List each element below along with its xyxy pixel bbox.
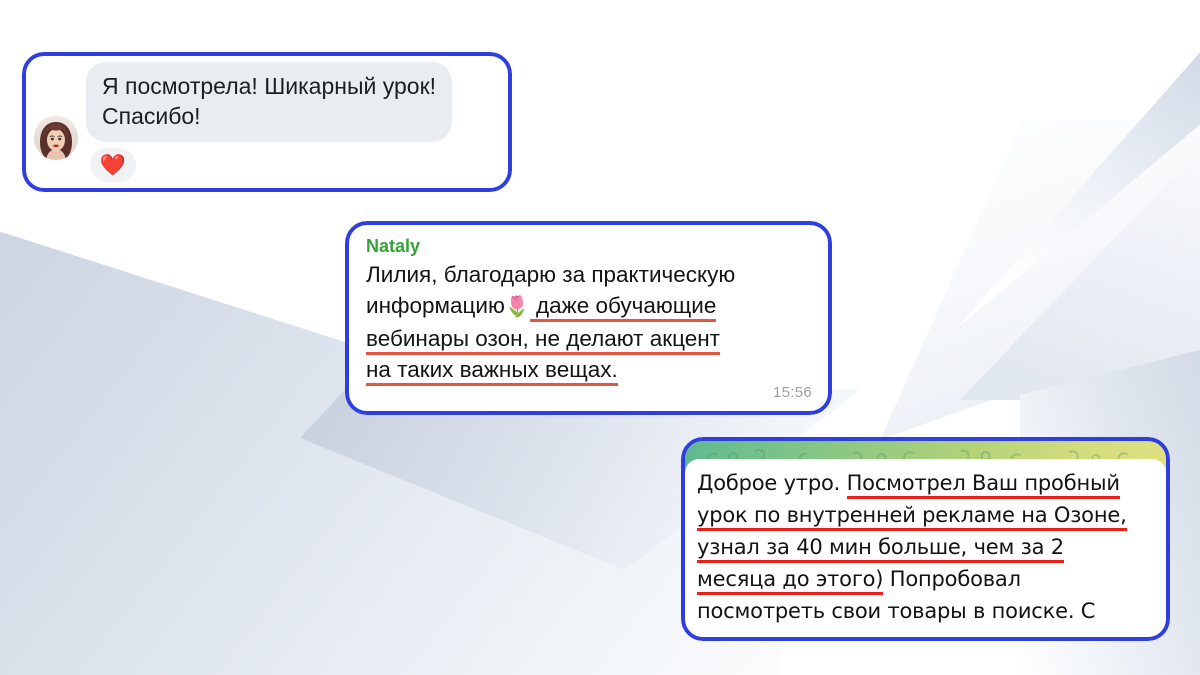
plain-text: Попробовал <box>883 567 1021 591</box>
plain-text: Доброе утро. <box>697 471 847 495</box>
chat-message-2: Nataly Лилия, благодарю за практическуюи… <box>345 221 832 415</box>
tulip-icon: 🌷 <box>505 296 530 318</box>
message-line: вебинары озон, не делают акцент <box>366 323 814 354</box>
plain-text: Лилия, благодарю за практическую <box>366 262 735 287</box>
highlighted-text: даже обучающие <box>530 293 717 322</box>
message-line: Я посмотрела! Шикарный урок! <box>102 71 436 101</box>
heart-icon: ❤️ <box>100 155 126 176</box>
message-line: Лилия, благодарю за практическую <box>366 259 814 290</box>
highlighted-text: на таких важных вещах. <box>366 357 618 386</box>
message-line: информацию🌷 даже обучающие <box>366 290 814 323</box>
highlighted-text: Посмотрел Ваш пробный <box>847 471 1120 499</box>
chat-message-3: Доброе утро. Посмотрел Ваш пробныйурок п… <box>681 437 1170 641</box>
message-line: узнал за 40 мин больше, чем за 2 <box>697 531 1156 563</box>
background-fold-top-right <box>960 0 1200 400</box>
highlighted-text: вебинары озон, не делают акцент <box>366 326 720 355</box>
chat-message-1: Я посмотрела! Шикарный урок! Спасибо! ❤️ <box>22 52 512 192</box>
screenshot-canvas: Я посмотрела! Шикарный урок! Спасибо! ❤️… <box>0 0 1200 675</box>
background-fold-crease <box>955 0 1200 330</box>
message-body: Доброе утро. Посмотрел Ваш пробныйурок п… <box>697 467 1156 627</box>
message-line: Спасибо! <box>102 101 436 131</box>
message-bubble: Я посмотрела! Шикарный урок! Спасибо! <box>86 62 452 142</box>
highlighted-text: месяца до этого) <box>697 567 883 595</box>
plain-text: информацию <box>366 293 505 318</box>
message-body: Лилия, благодарю за практическуюинформац… <box>366 259 814 385</box>
message-line: урок по внутренней рекламе на Озоне, <box>697 499 1156 531</box>
sender-name: Nataly <box>366 235 814 257</box>
plain-text: посмотреть свои товары в поиске. С <box>697 599 1095 623</box>
highlighted-text: узнал за 40 мин больше, чем за 2 <box>697 535 1064 563</box>
message-line: посмотреть свои товары в поиске. С <box>697 595 1156 627</box>
heart-reaction[interactable]: ❤️ <box>90 148 136 182</box>
message-line: месяца до этого) Попробовал <box>697 563 1156 595</box>
message-timestamp: 15:56 <box>773 384 812 401</box>
message-line: Доброе утро. Посмотрел Ваш пробный <box>697 467 1156 499</box>
highlighted-text: урок по внутренней рекламе на Озоне, <box>697 503 1127 531</box>
message-line: на таких важных вещах. <box>366 354 814 385</box>
background-fold-upper-wedge <box>880 120 1200 440</box>
avatar <box>34 116 78 160</box>
